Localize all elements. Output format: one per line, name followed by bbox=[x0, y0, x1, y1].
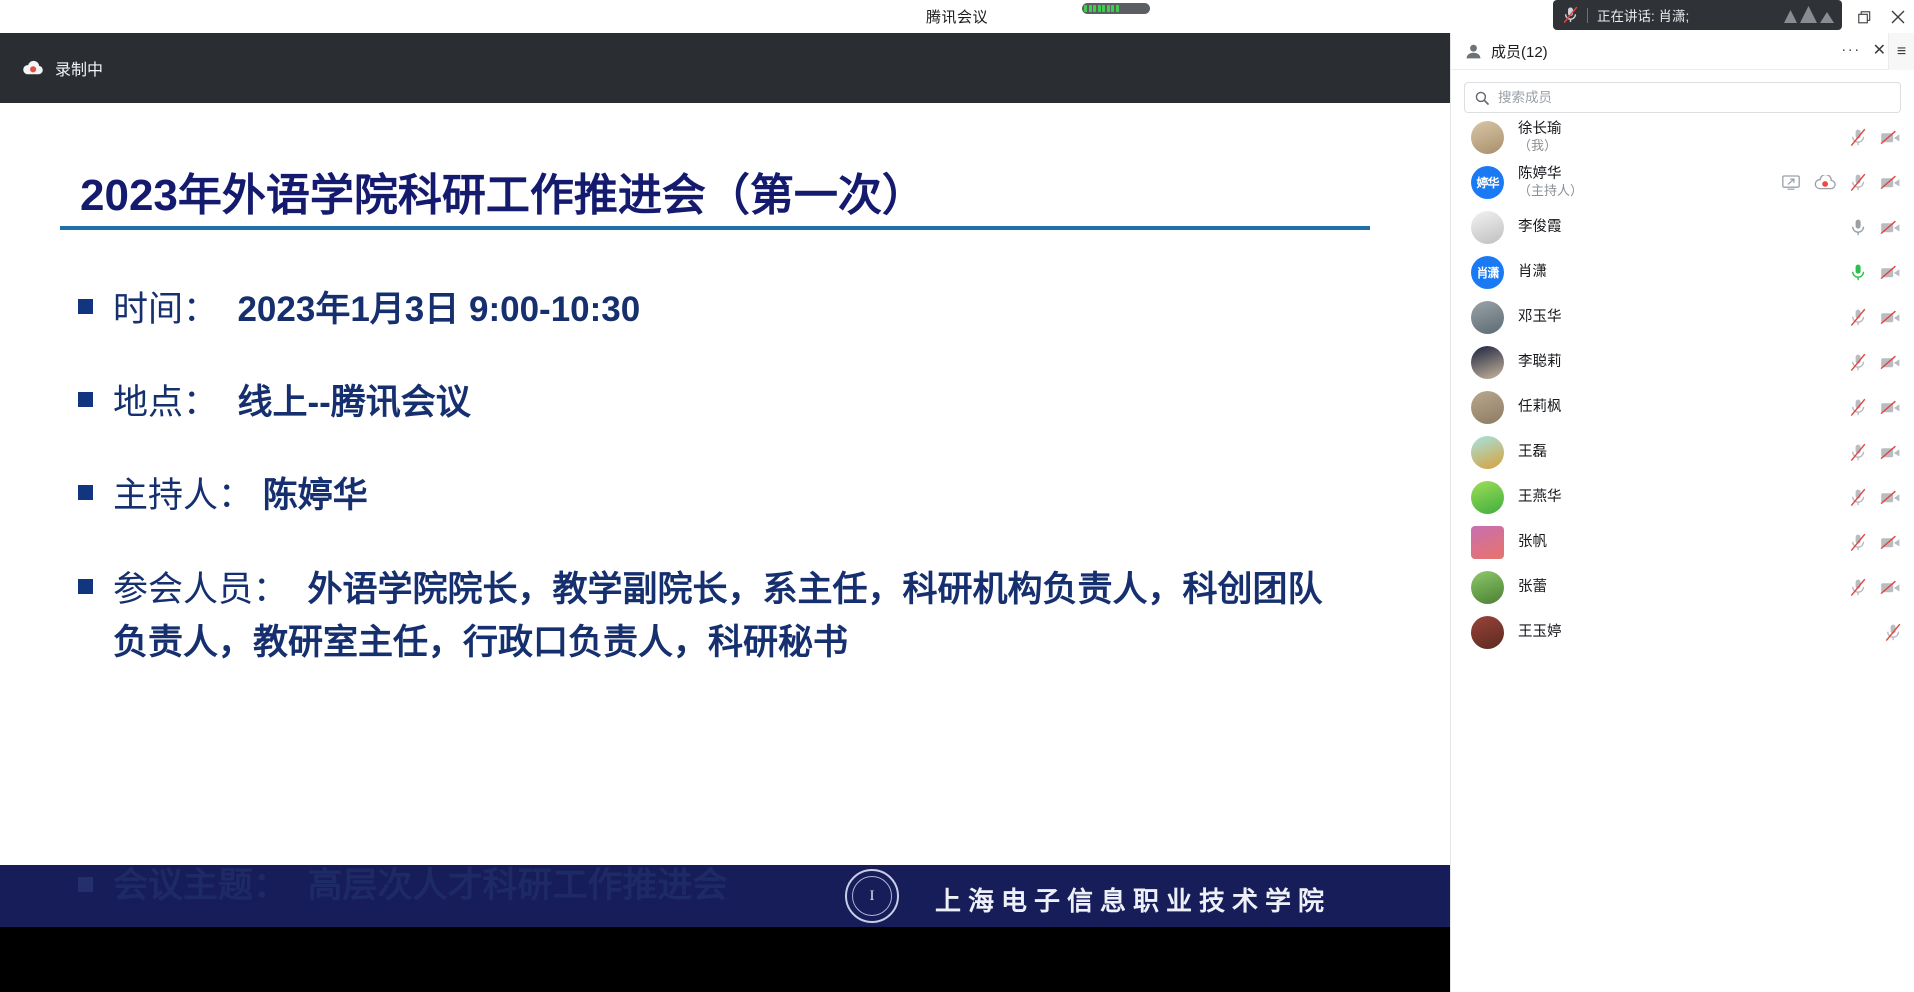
avatar bbox=[1471, 616, 1504, 649]
slide-bullet-label: 地点： 线上--腾讯会议 bbox=[113, 376, 471, 429]
camera-muted-icon[interactable] bbox=[1880, 130, 1901, 145]
camera-muted-icon[interactable] bbox=[1880, 220, 1901, 235]
participant-row[interactable]: 邓玉华 bbox=[1451, 295, 1914, 340]
camera-muted-icon[interactable] bbox=[1880, 175, 1901, 190]
people-icon bbox=[1465, 44, 1482, 59]
search-icon bbox=[1475, 91, 1489, 105]
mic-icon[interactable] bbox=[1850, 218, 1866, 237]
participant-name-block: 张蕾 bbox=[1518, 579, 1547, 597]
avatar bbox=[1471, 121, 1504, 154]
participant-role: （主持人） bbox=[1518, 183, 1583, 199]
participant-status-icons bbox=[1836, 205, 1901, 250]
participant-name: 邓玉华 bbox=[1518, 309, 1562, 327]
avatar: 婷华 bbox=[1471, 166, 1504, 199]
participant-name-block: 徐长瑜（我） bbox=[1518, 121, 1562, 155]
presentation-slide: 2023年外语学院科研工作推进会（第一次） 时间： 2023年1月3日 9:00… bbox=[0, 103, 1450, 927]
participant-row[interactable]: 张帆 bbox=[1451, 520, 1914, 565]
camera-muted-icon[interactable] bbox=[1880, 535, 1901, 550]
participant-row[interactable]: 婷华陈婷华（主持人） bbox=[1451, 160, 1914, 205]
volume-meter bbox=[1082, 3, 1150, 14]
participants-search-box[interactable] bbox=[1464, 82, 1901, 113]
bullet-square-icon bbox=[78, 877, 93, 892]
participant-row[interactable]: 李俊霞 bbox=[1451, 205, 1914, 250]
participant-name-block: 肖潇 bbox=[1518, 264, 1547, 282]
slide-footer-banner: 会议主题： 高层次人才科研工作推进会 I 上海电子信息职业技术学院 bbox=[0, 865, 1450, 927]
participant-name: 肖潇 bbox=[1518, 264, 1547, 282]
toast-divider bbox=[1587, 8, 1588, 23]
participants-panel: 成员(12) ··· ✕ ≡ 徐长瑜（我） bbox=[1450, 33, 1914, 992]
university-name: 上海电子信息职业技术学院 bbox=[935, 881, 1331, 918]
participant-role: （我） bbox=[1518, 138, 1562, 154]
avatar bbox=[1471, 436, 1504, 469]
participant-row[interactable]: 张蕾 bbox=[1451, 565, 1914, 610]
participant-name-block: 李聪莉 bbox=[1518, 354, 1562, 372]
cloud-record-icon[interactable] bbox=[1814, 175, 1836, 191]
participant-status-icons bbox=[1836, 475, 1901, 520]
slide-bullet-label: 主持人： 陈婷华 bbox=[113, 469, 368, 522]
recording-status-bar: 录制中 bbox=[0, 33, 1450, 103]
avatar bbox=[1471, 301, 1504, 334]
panel-menu-button[interactable]: ≡ bbox=[1888, 33, 1914, 70]
participant-name-block: 陈婷华（主持人） bbox=[1518, 166, 1583, 200]
university-logo-icon: I bbox=[845, 869, 899, 923]
avatar: 肖潇 bbox=[1471, 256, 1504, 289]
avatar bbox=[1471, 571, 1504, 604]
participant-name-block: 邓玉华 bbox=[1518, 309, 1562, 327]
participant-status-icons bbox=[1836, 565, 1901, 610]
participant-row[interactable]: 徐长瑜（我） bbox=[1451, 115, 1914, 160]
participant-status-icons bbox=[1836, 295, 1901, 340]
participant-row[interactable]: 王燕华 bbox=[1451, 475, 1914, 520]
slide-title: 2023年外语学院科研工作推进会（第一次） bbox=[80, 159, 926, 223]
participant-status-icons bbox=[1836, 520, 1901, 565]
mic-muted-icon[interactable] bbox=[1850, 488, 1866, 507]
participant-row[interactable]: 肖潇肖潇 bbox=[1451, 250, 1914, 295]
participant-name-block: 任莉枫 bbox=[1518, 399, 1562, 417]
camera-muted-icon[interactable] bbox=[1880, 490, 1901, 505]
participant-status-icons bbox=[1836, 430, 1901, 475]
camera-muted-icon[interactable] bbox=[1880, 445, 1901, 460]
mic-muted-icon[interactable] bbox=[1850, 128, 1866, 147]
recording-label: 录制中 bbox=[55, 56, 103, 80]
restore-window-icon[interactable] bbox=[1855, 8, 1873, 26]
participant-status-icons bbox=[1836, 385, 1901, 430]
panel-more-button[interactable]: ··· bbox=[1840, 41, 1862, 58]
bullet-square-icon bbox=[78, 485, 93, 500]
mic-muted-icon bbox=[1563, 6, 1578, 24]
participant-row[interactable]: 任莉枫 bbox=[1451, 385, 1914, 430]
tencent-meeting-window: 腾讯会议 正在讲话: 肖潇; bbox=[0, 0, 1914, 992]
slide-footer-bullet: 会议主题： 高层次人才科研工作推进会 bbox=[78, 859, 727, 912]
participant-name-block: 张帆 bbox=[1518, 534, 1547, 552]
close-window-icon[interactable] bbox=[1889, 8, 1907, 26]
bullet-square-icon bbox=[78, 299, 93, 314]
camera-muted-icon[interactable] bbox=[1880, 355, 1901, 370]
avatar bbox=[1471, 526, 1504, 559]
avatar bbox=[1471, 481, 1504, 514]
camera-muted-icon[interactable] bbox=[1880, 310, 1901, 325]
speaking-toast: 正在讲话: 肖潇; bbox=[1553, 0, 1842, 30]
bullet-square-icon bbox=[78, 579, 93, 594]
participant-name-block: 王磊 bbox=[1518, 444, 1547, 462]
participant-name: 张帆 bbox=[1518, 534, 1547, 552]
camera-muted-icon[interactable] bbox=[1880, 580, 1901, 595]
stage-letterbox bbox=[0, 927, 1450, 992]
participants-count-title: 成员(12) bbox=[1491, 41, 1548, 62]
participant-name-block: 王玉婷 bbox=[1518, 624, 1562, 642]
audio-wave-icon bbox=[1781, 6, 1834, 23]
participant-status-icons bbox=[1836, 115, 1901, 160]
slide-title-rule bbox=[60, 226, 1370, 230]
participant-name-block: 王燕华 bbox=[1518, 489, 1562, 507]
panel-close-button[interactable]: ✕ bbox=[1873, 40, 1886, 60]
mic-muted-icon[interactable] bbox=[1850, 353, 1866, 372]
participant-status-icons bbox=[1871, 610, 1901, 655]
shared-screen-stage: 录制中 2023年外语学院科研工作推进会（第一次） 时间： 2023年1月3日 … bbox=[0, 33, 1450, 992]
participant-name: 陈婷华 bbox=[1518, 166, 1583, 184]
participant-name: 王磊 bbox=[1518, 444, 1547, 462]
mic-muted-icon[interactable] bbox=[1885, 623, 1901, 642]
participant-name-block: 李俊霞 bbox=[1518, 219, 1562, 237]
participants-list[interactable]: 徐长瑜（我） 婷华陈婷华（主持人） 李俊霞 bbox=[1451, 115, 1914, 992]
slide-bullet-label: 时间： 2023年1月3日 9:00-10:30 bbox=[113, 283, 640, 336]
app-title: 腾讯会议 bbox=[926, 6, 988, 27]
participant-name: 王燕华 bbox=[1518, 489, 1562, 507]
search-input[interactable] bbox=[1498, 90, 1890, 105]
avatar bbox=[1471, 211, 1504, 244]
slide-footer-bullet-text: 会议主题： 高层次人才科研工作推进会 bbox=[113, 859, 727, 912]
university-logo-letter: I bbox=[852, 876, 892, 916]
share-screen-icon[interactable] bbox=[1782, 175, 1800, 190]
participant-row[interactable]: 王玉婷 bbox=[1451, 610, 1914, 655]
participant-name: 张蕾 bbox=[1518, 579, 1547, 597]
participant-status-icons bbox=[1768, 160, 1901, 205]
slide-bullet-list: 时间： 2023年1月3日 9:00-10:30 地点： 线上--腾讯会议 主持… bbox=[78, 283, 1388, 709]
mic-muted-icon[interactable] bbox=[1850, 308, 1866, 327]
participant-row[interactable]: 王磊 bbox=[1451, 430, 1914, 475]
participant-row[interactable]: 李聪莉 bbox=[1451, 340, 1914, 385]
participant-name: 李俊霞 bbox=[1518, 219, 1562, 237]
slide-bullet-label: 参会人员： 外语学院院长，教学副院长，系主任，科研机构负责人，科创团队负责人，教… bbox=[113, 563, 1348, 669]
participant-name: 王玉婷 bbox=[1518, 624, 1562, 642]
participant-status-icons bbox=[1836, 340, 1901, 385]
participants-panel-header: 成员(12) ··· ✕ ≡ bbox=[1451, 33, 1914, 70]
mic-muted-icon[interactable] bbox=[1850, 533, 1866, 552]
camera-muted-icon[interactable] bbox=[1880, 400, 1901, 415]
mic-icon[interactable] bbox=[1850, 263, 1866, 282]
slide-bullet: 主持人： 陈婷华 bbox=[78, 469, 1388, 522]
mic-muted-icon[interactable] bbox=[1850, 578, 1866, 597]
cloud-record-icon bbox=[22, 60, 44, 76]
speaking-toast-text: 正在讲话: 肖潇; bbox=[1597, 5, 1689, 25]
mic-muted-icon[interactable] bbox=[1850, 173, 1866, 192]
camera-muted-icon[interactable] bbox=[1880, 265, 1901, 280]
participant-name: 李聪莉 bbox=[1518, 354, 1562, 372]
avatar bbox=[1471, 346, 1504, 379]
slide-bullet: 时间： 2023年1月3日 9:00-10:30 bbox=[78, 283, 1388, 336]
mic-muted-icon[interactable] bbox=[1850, 398, 1866, 417]
bullet-square-icon bbox=[78, 392, 93, 407]
participant-name: 徐长瑜 bbox=[1518, 121, 1562, 139]
avatar bbox=[1471, 391, 1504, 424]
slide-bullet: 参会人员： 外语学院院长，教学副院长，系主任，科研机构负责人，科创团队负责人，教… bbox=[78, 563, 1388, 669]
participant-name: 任莉枫 bbox=[1518, 399, 1562, 417]
mic-muted-icon[interactable] bbox=[1850, 443, 1866, 462]
participant-status-icons bbox=[1836, 250, 1901, 295]
slide-bullet: 地点： 线上--腾讯会议 bbox=[78, 376, 1388, 429]
